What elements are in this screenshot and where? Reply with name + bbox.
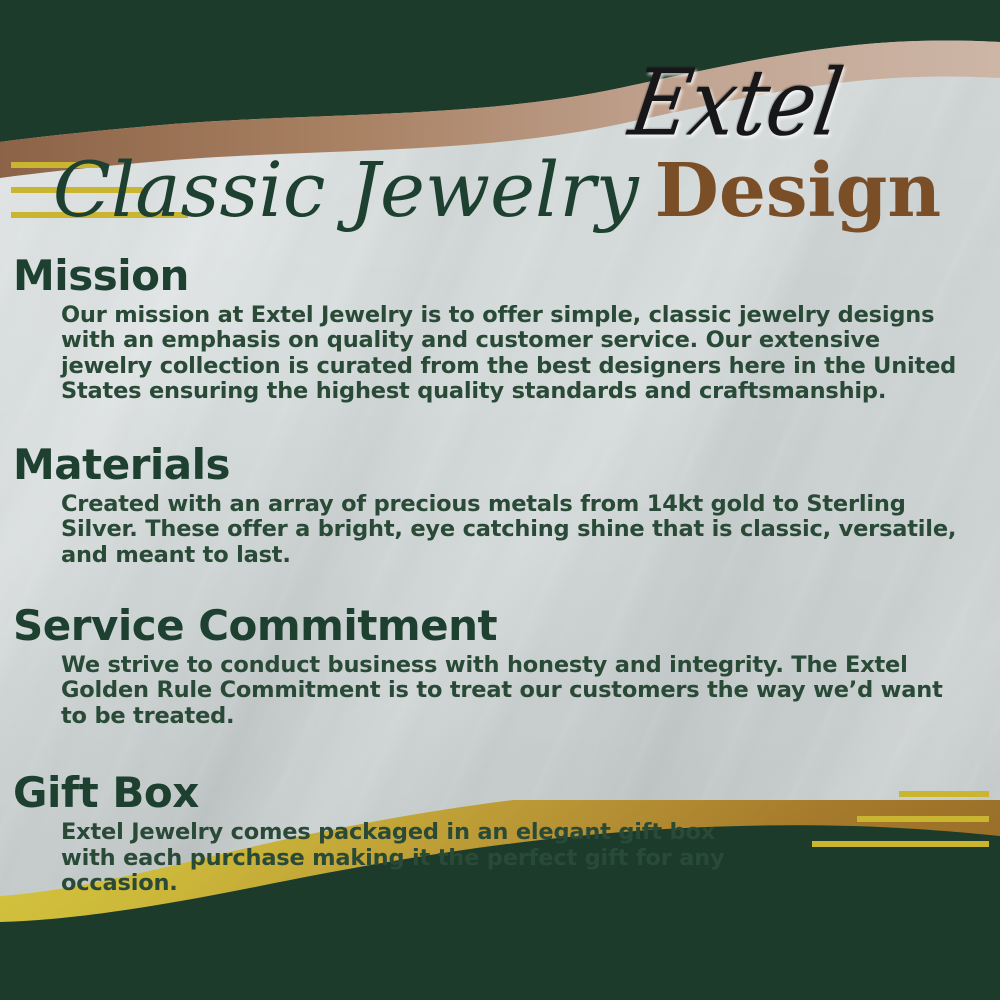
- section-body-gift-box: Extel Jewelry comes packaged in an elega…: [61, 820, 761, 896]
- section-body-materials: Created with an array of precious metals…: [61, 492, 966, 568]
- title-design: Design: [655, 148, 942, 234]
- brand-logo-extel: Extel: [623, 51, 849, 157]
- section-mission: Mission Our mission at Extel Jewelry is …: [0, 252, 1000, 405]
- section-heading-materials: Materials: [13, 441, 1000, 488]
- section-body-service-commitment: We strive to conduct business with hones…: [61, 653, 966, 729]
- content-sections: Mission Our mission at Extel Jewelry is …: [0, 252, 1000, 899]
- section-body-mission: Our mission at Extel Jewelry is to offer…: [61, 303, 966, 405]
- page-title: Classic JewelryDesign: [0, 152, 1000, 228]
- section-heading-gift-box: Gift Box: [13, 769, 1000, 816]
- section-service-commitment: Service Commitment We strive to conduct …: [0, 602, 1000, 729]
- section-heading-service-commitment: Service Commitment: [13, 602, 1000, 649]
- title-classic-jewelry: Classic Jewelry: [53, 145, 639, 234]
- section-heading-mission: Mission: [13, 252, 1000, 299]
- section-materials: Materials Created with an array of preci…: [0, 441, 1000, 568]
- section-gift-box: Gift Box Extel Jewelry comes packaged in…: [0, 769, 1000, 896]
- poster-canvas: Extel Classic JewelryDesign Mission Our …: [0, 0, 1000, 1000]
